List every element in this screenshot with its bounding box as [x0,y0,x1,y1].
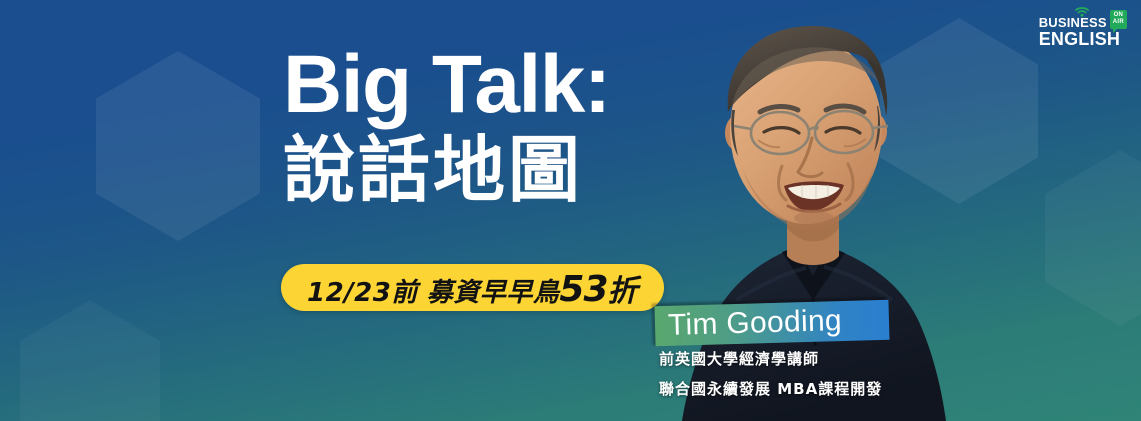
hexagon-decoration-bottom-left [20,300,160,421]
promo-campaign: 募資早早鳥 [427,272,560,309]
promo-discount-unit: 折 [608,266,639,310]
promo-date: 12/23 [307,278,391,308]
brand-logo[interactable]: BUSINESS ON AIR ENGLISH [1039,10,1127,50]
promo-text: 12/23前 募資早早鳥 53 折 [307,266,638,310]
headline-chinese: 說話地圖 [283,133,610,209]
on-air-badge-line2: AIR [1113,19,1124,26]
promo-banner: Big Talk: 說話地圖 12/23前 募資早早鳥 53 折 Tim Goo… [0,0,1141,421]
promo-date-suffix: 前 [391,272,418,309]
speaker-credentials: 前英國大學經濟學講師 聯合國永續發展 MBA課程開發 [659,348,882,408]
hexagon-decoration-right [880,18,1038,204]
headline-block: Big Talk: 說話地圖 [283,46,610,208]
speaker-name: Tim Gooding [668,304,843,343]
hexagon-decoration-left [96,51,260,241]
speaker-name-bar: Tim Gooding [654,300,889,347]
on-air-badge-line1: ON [1113,12,1124,19]
promo-discount-number: 53 [559,269,607,310]
hexagon-decoration-far-right [1045,150,1141,326]
promo-discount-badge[interactable]: 12/23前 募資早早鳥 53 折 [281,264,664,311]
credential-line-1: 前英國大學經濟學講師 [659,348,882,369]
on-air-badge: ON AIR [1110,10,1127,29]
wifi-icon [1075,4,1089,22]
brand-name-business: BUSINESS [1039,16,1107,29]
headline-english: Big Talk: [283,46,610,125]
credential-line-2: 聯合國永續發展 MBA課程開發 [659,378,882,399]
